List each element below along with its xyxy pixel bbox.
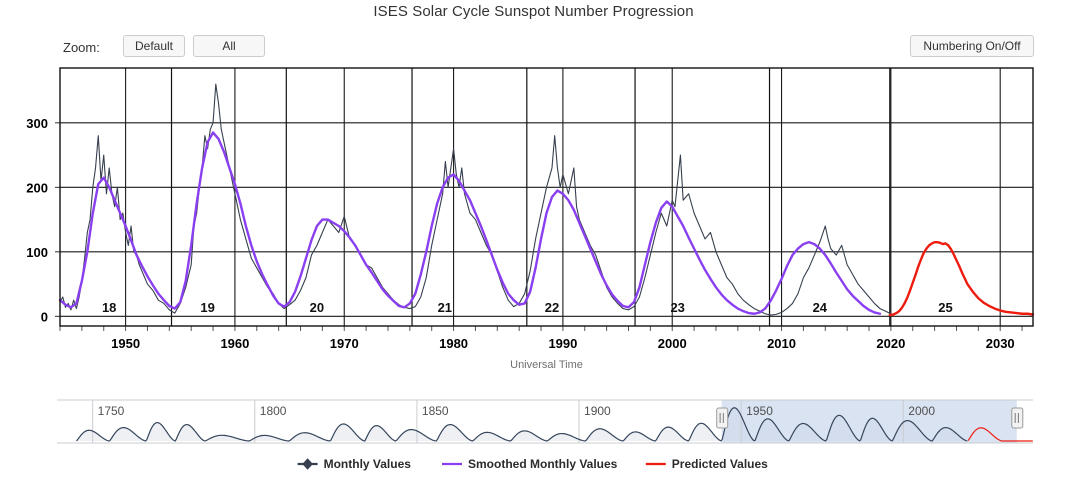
x-tick-label: 2020 — [876, 336, 905, 351]
x-tick-label: 1990 — [548, 336, 577, 351]
legend-item[interactable]: Monthly Values — [298, 457, 412, 471]
plot-area-container: 0100200300 19501960197019801990200020102… — [0, 0, 1067, 484]
x-tick-label: 2030 — [986, 336, 1015, 351]
y-tick-label: 0 — [41, 309, 48, 324]
x-tick-label: 1970 — [330, 336, 359, 351]
navigator-tick-label: 1800 — [260, 404, 287, 418]
legend-label: Smoothed Monthly Values — [468, 457, 618, 471]
cycle-number-label: 20 — [310, 300, 324, 315]
cycle-number-label: 24 — [813, 300, 828, 315]
x-tick-label: 1950 — [111, 336, 140, 351]
navigator-tick-label: 1750 — [98, 404, 125, 418]
chart-svg[interactable]: 0100200300 19501960197019801990200020102… — [0, 0, 1067, 484]
navigator-tick-label: 1900 — [584, 404, 611, 418]
navigator-tick-label: 1850 — [422, 404, 449, 418]
x-tick-label: 2000 — [658, 336, 687, 351]
cycle-number-label: 25 — [938, 300, 952, 315]
navigator-handle-left[interactable] — [717, 408, 728, 428]
x-axis-labels: 195019601970198019902000201020202030 — [111, 336, 1015, 351]
legend-label: Monthly Values — [324, 457, 412, 471]
y-axis-labels: 0100200300 — [26, 116, 48, 325]
cycle-number-label: 23 — [670, 300, 684, 315]
cycle-number-label: 19 — [200, 300, 214, 315]
navigator[interactable]: 175018001850190019502000 — [57, 400, 1033, 443]
navigator-tick-label: 2000 — [908, 404, 935, 418]
cycle-number-label: 22 — [545, 300, 559, 315]
cycle-number-label: 18 — [102, 300, 116, 315]
y-tick-label: 100 — [26, 245, 48, 260]
plot-background — [60, 68, 1033, 326]
x-axis-title: Universal Time — [510, 359, 583, 371]
sunspot-chart-widget: ISES Solar Cycle Sunspot Number Progress… — [0, 0, 1067, 484]
cycle-number-label: 21 — [438, 300, 452, 315]
chart-legend[interactable]: Monthly ValuesSmoothed Monthly ValuesPre… — [298, 457, 769, 471]
legend-item[interactable]: Predicted Values — [646, 457, 768, 471]
y-tick-label: 200 — [26, 180, 48, 195]
legend-label: Predicted Values — [672, 457, 768, 471]
x-tick-label: 1960 — [220, 336, 249, 351]
x-axis-title-label: Universal Time — [510, 359, 583, 371]
x-tick-label: 2010 — [767, 336, 796, 351]
legend-item[interactable]: Smoothed Monthly Values — [442, 457, 618, 471]
y-tick-label: 300 — [26, 116, 48, 131]
navigator-handle-right[interactable] — [1012, 408, 1023, 428]
legend-marker-diamond — [303, 459, 312, 469]
navigator-tick-label: 1950 — [746, 404, 773, 418]
x-tick-label: 1980 — [439, 336, 468, 351]
